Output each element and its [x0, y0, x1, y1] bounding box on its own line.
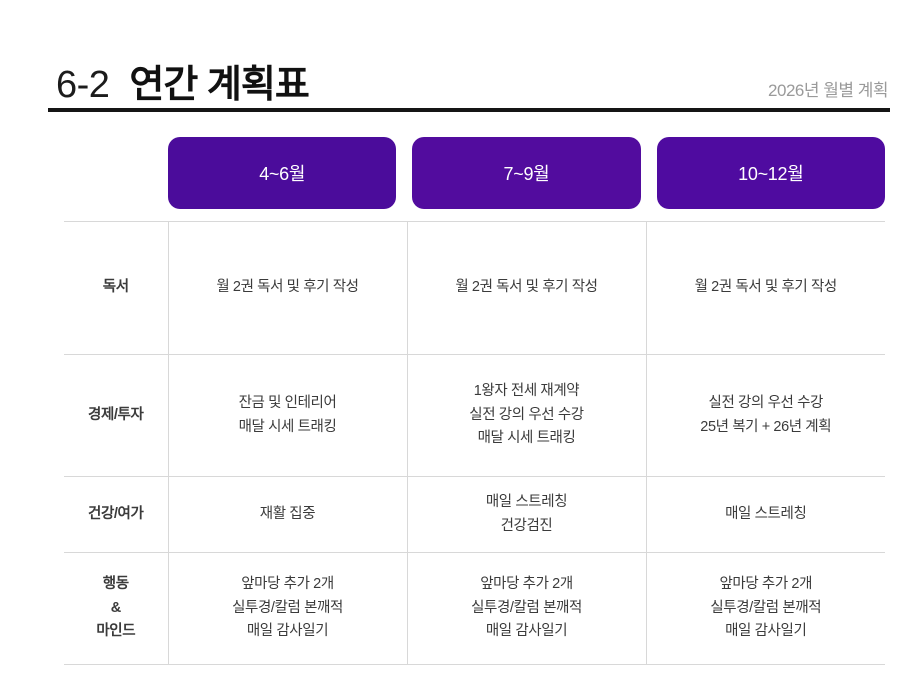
cell-action-mind-q2: 앞마당 추가 2개 실투경/칼럼 본깨적 매일 감사일기 [168, 553, 407, 665]
cell-line: 매일 감사일기 [655, 620, 878, 644]
cell-line: 매달 시세 트래킹 [177, 416, 399, 440]
header-row: 6-2 연간 계획표 2026년 월별 계획 [48, 40, 890, 104]
quarter-button-q2-label: 4~6월 [259, 160, 305, 186]
row-category-reading: 독서 [64, 222, 168, 355]
table-row: 행동 & 마인드 앞마당 추가 2개 실투경/칼럼 본깨적 매일 감사일기 앞마… [64, 553, 885, 665]
cell-line: 앞마당 추가 2개 [655, 573, 878, 597]
category-line: 마인드 [72, 620, 160, 644]
cell-line: 앞마당 추가 2개 [416, 573, 638, 597]
header-subtitle: 2026년 월별 계획 [768, 76, 888, 104]
category-line: 경제/투자 [72, 404, 160, 428]
quarter-button-q4-label: 10~12월 [738, 160, 803, 186]
title-number: 6-2 [56, 66, 109, 104]
cell-reading-q2: 월 2권 독서 및 후기 작성 [168, 222, 407, 355]
quarter-button-q3[interactable]: 7~9월 [412, 137, 640, 209]
quarter-button-q4[interactable]: 10~12월 [657, 137, 885, 209]
annual-plan-table: 독서 월 2권 독서 및 후기 작성 월 2권 독서 및 후기 작성 월 2권 … [64, 221, 885, 665]
category-line: & [72, 597, 160, 621]
cell-line: 월 2권 독서 및 후기 작성 [416, 276, 638, 300]
cell-line: 매일 감사일기 [416, 620, 638, 644]
row-category-action-mind: 행동 & 마인드 [64, 553, 168, 665]
row-category-health: 건강/여가 [64, 477, 168, 553]
cell-line: 실투경/칼럼 본깨적 [416, 597, 638, 621]
header-divider [48, 108, 890, 112]
cell-line: 실전 강의 우선 수강 [655, 392, 878, 416]
cell-line: 실투경/칼럼 본깨적 [177, 597, 399, 621]
cell-line: 매달 시세 트래킹 [416, 427, 638, 451]
cell-finance-q2: 잔금 및 인테리어 매달 시세 트래킹 [168, 355, 407, 477]
cell-line: 앞마당 추가 2개 [177, 573, 399, 597]
category-line: 독서 [72, 276, 160, 300]
quarter-button-q3-label: 7~9월 [504, 160, 550, 186]
cell-line: 잔금 및 인테리어 [177, 392, 399, 416]
cell-health-q4: 매일 스트레칭 [646, 477, 885, 553]
page-title: 6-2 연간 계획표 [56, 66, 309, 104]
cell-line: 건강검진 [416, 515, 638, 539]
cell-line: 실전 강의 우선 수강 [416, 404, 638, 428]
cell-line: 재활 집중 [177, 503, 399, 527]
cell-reading-q4: 월 2권 독서 및 후기 작성 [646, 222, 885, 355]
cell-line: 월 2권 독서 및 후기 작성 [177, 276, 399, 300]
cell-line: 매일 스트레칭 [655, 503, 878, 527]
table-row: 경제/투자 잔금 및 인테리어 매달 시세 트래킹 1왕자 전세 재계약 실전 … [64, 355, 885, 477]
cell-line: 25년 복기 + 26년 계획 [655, 416, 878, 440]
cell-health-q3: 매일 스트레칭 건강검진 [407, 477, 646, 553]
cell-line: 월 2권 독서 및 후기 작성 [655, 276, 878, 300]
title-text: 연간 계획표 [129, 66, 308, 104]
slide-header: 6-2 연간 계획표 2026년 월별 계획 [48, 40, 890, 112]
row-category-finance: 경제/투자 [64, 355, 168, 477]
slide-canvas: 6-2 연간 계획표 2026년 월별 계획 4~6월 7~9월 10~12월 … [0, 0, 912, 684]
cell-action-mind-q3: 앞마당 추가 2개 실투경/칼럼 본깨적 매일 감사일기 [407, 553, 646, 665]
quarter-button-bar: 4~6월 7~9월 10~12월 [168, 137, 885, 209]
cell-action-mind-q4: 앞마당 추가 2개 실투경/칼럼 본깨적 매일 감사일기 [646, 553, 885, 665]
cell-health-q2: 재활 집중 [168, 477, 407, 553]
quarter-button-q2[interactable]: 4~6월 [168, 137, 396, 209]
cell-line: 매일 스트레칭 [416, 491, 638, 515]
cell-line: 매일 감사일기 [177, 620, 399, 644]
table-row: 독서 월 2권 독서 및 후기 작성 월 2권 독서 및 후기 작성 월 2권 … [64, 222, 885, 355]
category-line: 건강/여가 [72, 503, 160, 527]
category-line: 행동 [72, 573, 160, 597]
cell-finance-q3: 1왕자 전세 재계약 실전 강의 우선 수강 매달 시세 트래킹 [407, 355, 646, 477]
cell-line: 1왕자 전세 재계약 [416, 380, 638, 404]
cell-line: 실투경/칼럼 본깨적 [655, 597, 878, 621]
cell-finance-q4: 실전 강의 우선 수강 25년 복기 + 26년 계획 [646, 355, 885, 477]
table-row: 건강/여가 재활 집중 매일 스트레칭 건강검진 매일 스트레칭 [64, 477, 885, 553]
cell-reading-q3: 월 2권 독서 및 후기 작성 [407, 222, 646, 355]
